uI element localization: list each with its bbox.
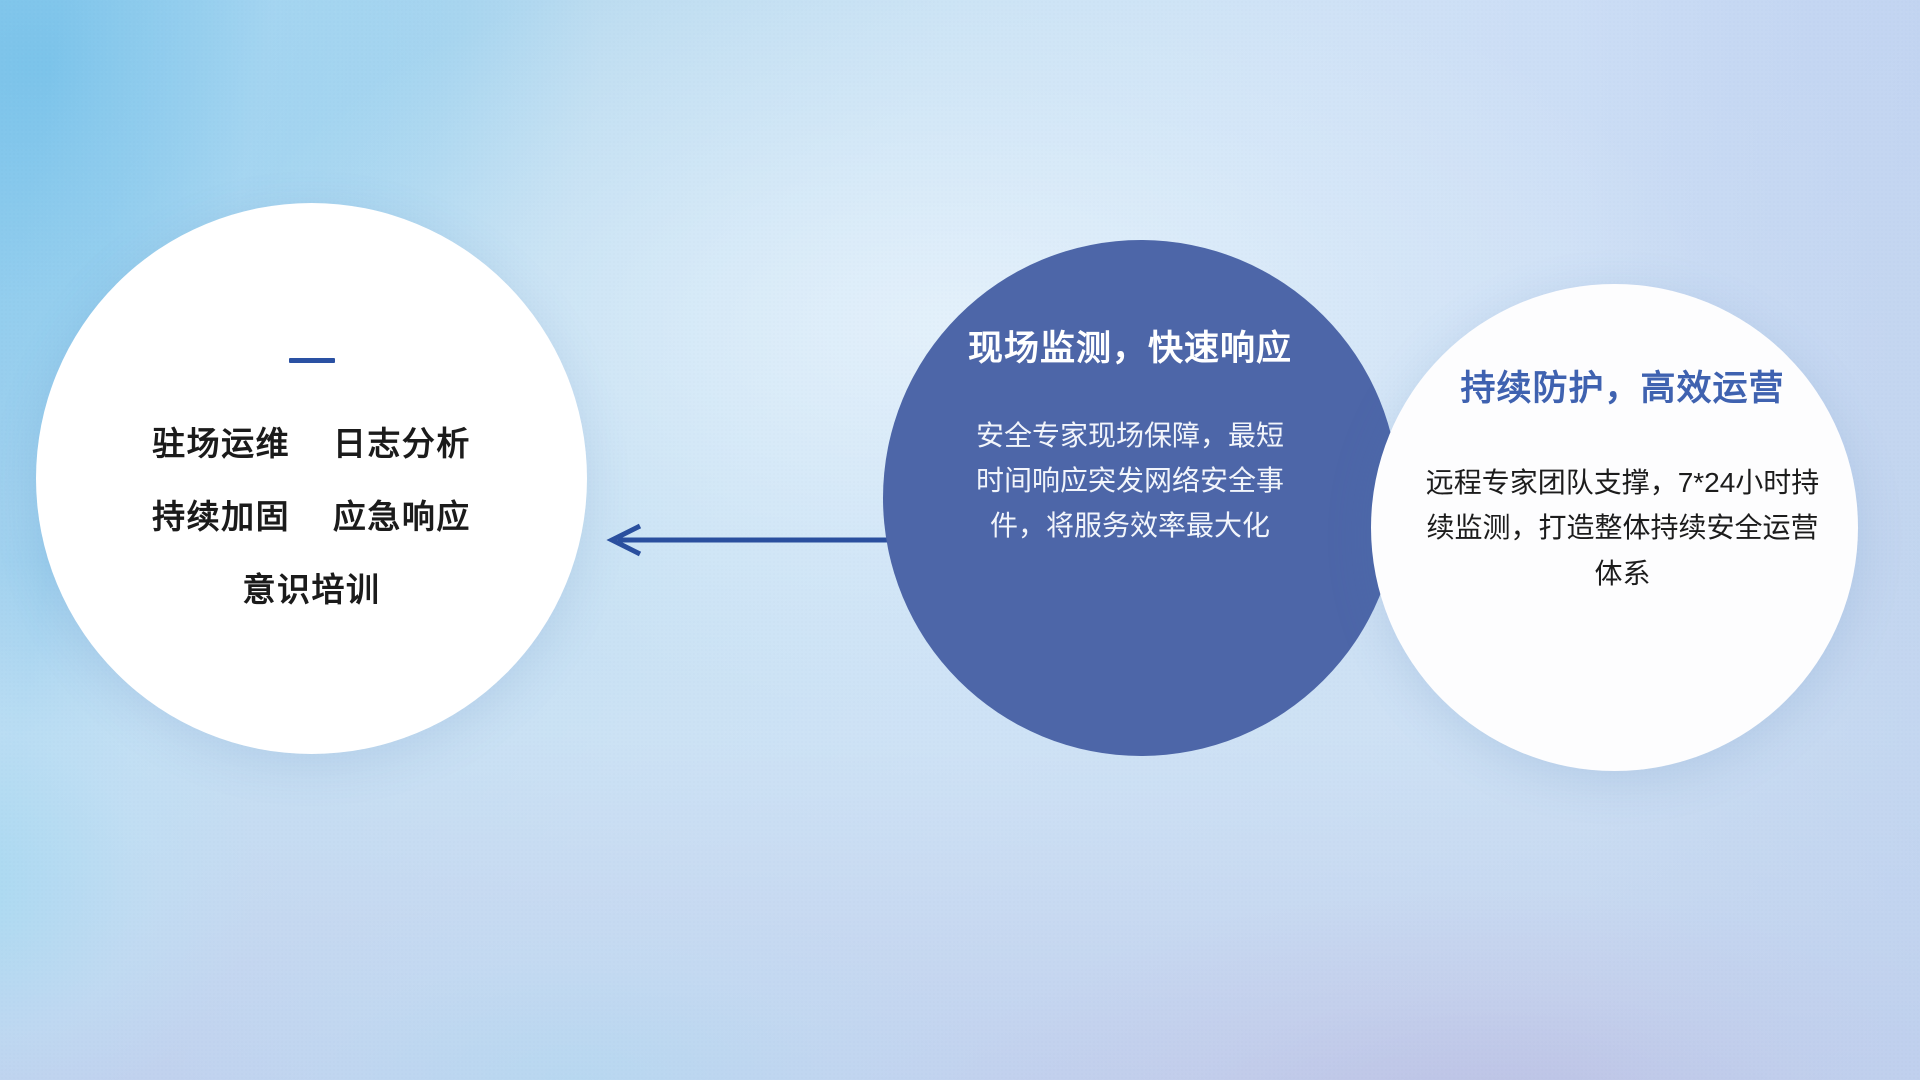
- right-white-circle: 持续防护，高效运营 远程专家团队支撑，7*24小时持续监测，打造整体持续安全运营…: [1371, 284, 1858, 771]
- left-arrow-icon: [596, 520, 896, 560]
- keyword-row: 意识培训: [152, 573, 471, 606]
- middle-circle-content: 现场监测，快速响应 安全专家现场保障，最短时间响应突发网络安全事件，将服务效率最…: [883, 240, 1399, 756]
- slide-canvas: 驻场运维 日志分析 持续加固 应急响应 意识培训 现场监测，快速响应 安全专家现…: [0, 0, 1920, 1080]
- right-circle-content: 持续防护，高效运营 远程专家团队支撑，7*24小时持续监测，打造整体持续安全运营…: [1371, 284, 1858, 771]
- middle-circle-title: 现场监测，快速响应: [968, 328, 1292, 370]
- left-keywords-circle: 驻场运维 日志分析 持续加固 应急响应 意识培训: [36, 203, 587, 754]
- middle-circle-body: 安全专家现场保障，最短时间响应突发网络安全事件，将服务效率最大化: [972, 414, 1288, 548]
- middle-dark-circle: 现场监测，快速响应 安全专家现场保障，最短时间响应突发网络安全事件，将服务效率最…: [883, 240, 1399, 756]
- horizontal-dash-icon: [289, 358, 335, 363]
- connector-arrow: [596, 520, 896, 560]
- right-circle-body: 远程专家团队支撑，7*24小时持续监测，打造整体持续安全运营体系: [1423, 460, 1823, 596]
- right-circle-title: 持续防护，高效运营: [1460, 368, 1784, 410]
- left-circle-content: 驻场运维 日志分析 持续加固 应急响应 意识培训: [36, 203, 587, 754]
- keyword-row: 持续加固 应急响应: [152, 500, 471, 533]
- keyword-list: 驻场运维 日志分析 持续加固 应急响应 意识培训: [152, 427, 471, 606]
- keyword-row: 驻场运维 日志分析: [152, 427, 471, 460]
